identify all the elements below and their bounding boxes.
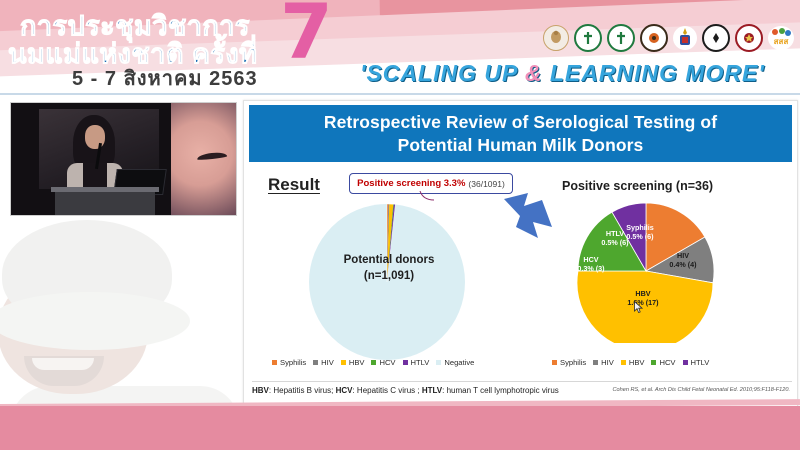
legend-label-negative: Negative <box>444 358 474 367</box>
slide-title-line2: Potential Human Milk Donors <box>398 134 644 156</box>
bottom-pink-band <box>0 406 800 450</box>
legend-swatch-htlv <box>403 360 408 365</box>
presentation-slide: Retrospective Review of Serological Test… <box>243 100 798 412</box>
potential-donors-legend: Syphilis HIV HBV HCV HTLV Negative <box>272 358 474 367</box>
conference-date-thai: 5 - 7 สิงหาคม 2563 <box>72 62 258 94</box>
legend-swatch-syphilis <box>272 360 277 365</box>
conference-tagline: 'SCALING UP & LEARNING MORE' <box>360 60 765 87</box>
footnote-abbr-hbv: HBV <box>252 386 269 395</box>
footnote-abbr-hcv: HCV <box>336 386 353 395</box>
slide-title-bar: Retrospective Review of Serological Test… <box>249 105 792 162</box>
legend2-swatch-htlv <box>683 360 688 365</box>
logo-thai-royal-seal <box>543 25 569 51</box>
slide-footnote: HBV: Hepatitis B virus; HCV: Hepatitis C… <box>252 381 792 395</box>
legend2-label-hiv: HIV <box>601 358 614 367</box>
legend2-label-htlv: HTLV <box>691 358 710 367</box>
legend2-label-syphilis: Syphilis <box>560 358 586 367</box>
legend-label-hbv: HBV <box>349 358 365 367</box>
positive-screening-legend: Syphilis HIV HBV HCV HTLV <box>552 358 709 367</box>
logo-red-emblem <box>735 24 763 52</box>
tagline-ampersand: & <box>525 60 543 86</box>
footnote-text-2: : Hepatitis C virus ; <box>352 386 421 395</box>
legend-swatch-negative <box>436 360 441 365</box>
legend-swatch-hiv <box>313 360 318 365</box>
legend-swatch-hbv <box>341 360 346 365</box>
legend2-swatch-hbv <box>621 360 626 365</box>
speaker-face <box>85 125 105 149</box>
legend-label-htlv: HTLV <box>411 358 430 367</box>
legend-item-hiv: HIV <box>313 358 334 367</box>
legend-label-hiv: HIV <box>321 358 334 367</box>
mouse-cursor-icon <box>634 301 643 314</box>
legend-item-hbv: HBV <box>341 358 365 367</box>
potential-donors-label-line1: Potential donors <box>294 253 484 269</box>
footnote-text-1: : Hepatitis B virus; <box>269 386 336 395</box>
screenshot-root: 7 การประชุมวิชาการ นมแม่แห่งชาติ ครั้งที… <box>0 0 800 450</box>
positive-screening-pie-title: Positive screening (n=36) <box>562 179 713 193</box>
legend-swatch-hcv <box>371 360 376 365</box>
result-heading: Result <box>268 175 320 195</box>
slide-title-line1: Retrospective Review of Serological Test… <box>324 111 717 133</box>
legend2-item-htlv: HTLV <box>683 358 710 367</box>
header-bottom-rule <box>0 93 800 95</box>
logo-thaihealth: สสส <box>768 26 794 50</box>
tagline-part1: 'SCALING UP <box>360 60 525 86</box>
legend2-label-hcv: HCV <box>659 358 675 367</box>
logo-green-circle-2 <box>607 24 635 52</box>
logo-royal-crest <box>673 26 697 50</box>
watermark-teeth <box>32 358 94 370</box>
footnote-text-3: : human T cell lymphotropic virus <box>442 386 559 395</box>
speaker-video-thumbnail[interactable] <box>10 102 237 216</box>
legend2-label-hbv: HBV <box>629 358 645 367</box>
podium-top <box>51 187 159 192</box>
legend2-swatch-hcv <box>651 360 656 365</box>
callout-percent-text: Positive screening 3.3% <box>357 178 465 189</box>
legend2-item-hbv: HBV <box>621 358 645 367</box>
blue-arrow-icon <box>502 189 562 245</box>
callout-fraction-text: (36/1091) <box>468 179 504 189</box>
conference-edition-number: 7 <box>280 0 333 70</box>
conference-header-banner: 7 การประชุมวิชาการ นมแม่แห่งชาติ ครั้งที… <box>0 0 800 95</box>
legend2-swatch-hiv <box>593 360 598 365</box>
logo-green-circle-1 <box>574 24 602 52</box>
potential-donors-center-label: Potential donors (n=1,091) <box>294 253 484 284</box>
tagline-part2: LEARNING MORE' <box>542 60 764 86</box>
sponsor-logos-row: สสส <box>543 24 794 52</box>
legend2-item-hiv: HIV <box>593 358 614 367</box>
footnote-abbr-htlv: HTLV <box>422 386 442 395</box>
legend-item-syphilis: Syphilis <box>272 358 306 367</box>
positive-screening-pie-chart <box>574 199 718 343</box>
logo-orange-emblem <box>640 24 668 52</box>
legend2-item-syphilis: Syphilis <box>552 358 586 367</box>
watermark-hat-brim <box>0 292 190 350</box>
legend-label-syphilis: Syphilis <box>280 358 306 367</box>
legend2-item-hcv: HCV <box>651 358 675 367</box>
legend-item-htlv: HTLV <box>403 358 430 367</box>
logo-black-emblem <box>702 24 730 52</box>
legend-item-hcv: HCV <box>371 358 395 367</box>
footnote-text: HBV: Hepatitis B virus; HCV: Hepatitis C… <box>252 386 559 395</box>
legend-label-hcv: HCV <box>379 358 395 367</box>
legend2-swatch-syphilis <box>552 360 557 365</box>
footnote-citation: Cohen RS, et al. Arch Dis Child Fetal Ne… <box>612 387 790 393</box>
legend-item-negative: Negative <box>436 358 474 367</box>
podium <box>55 189 155 215</box>
potential-donors-label-line2: (n=1,091) <box>294 269 484 285</box>
svg-text:สสส: สสส <box>774 37 789 46</box>
